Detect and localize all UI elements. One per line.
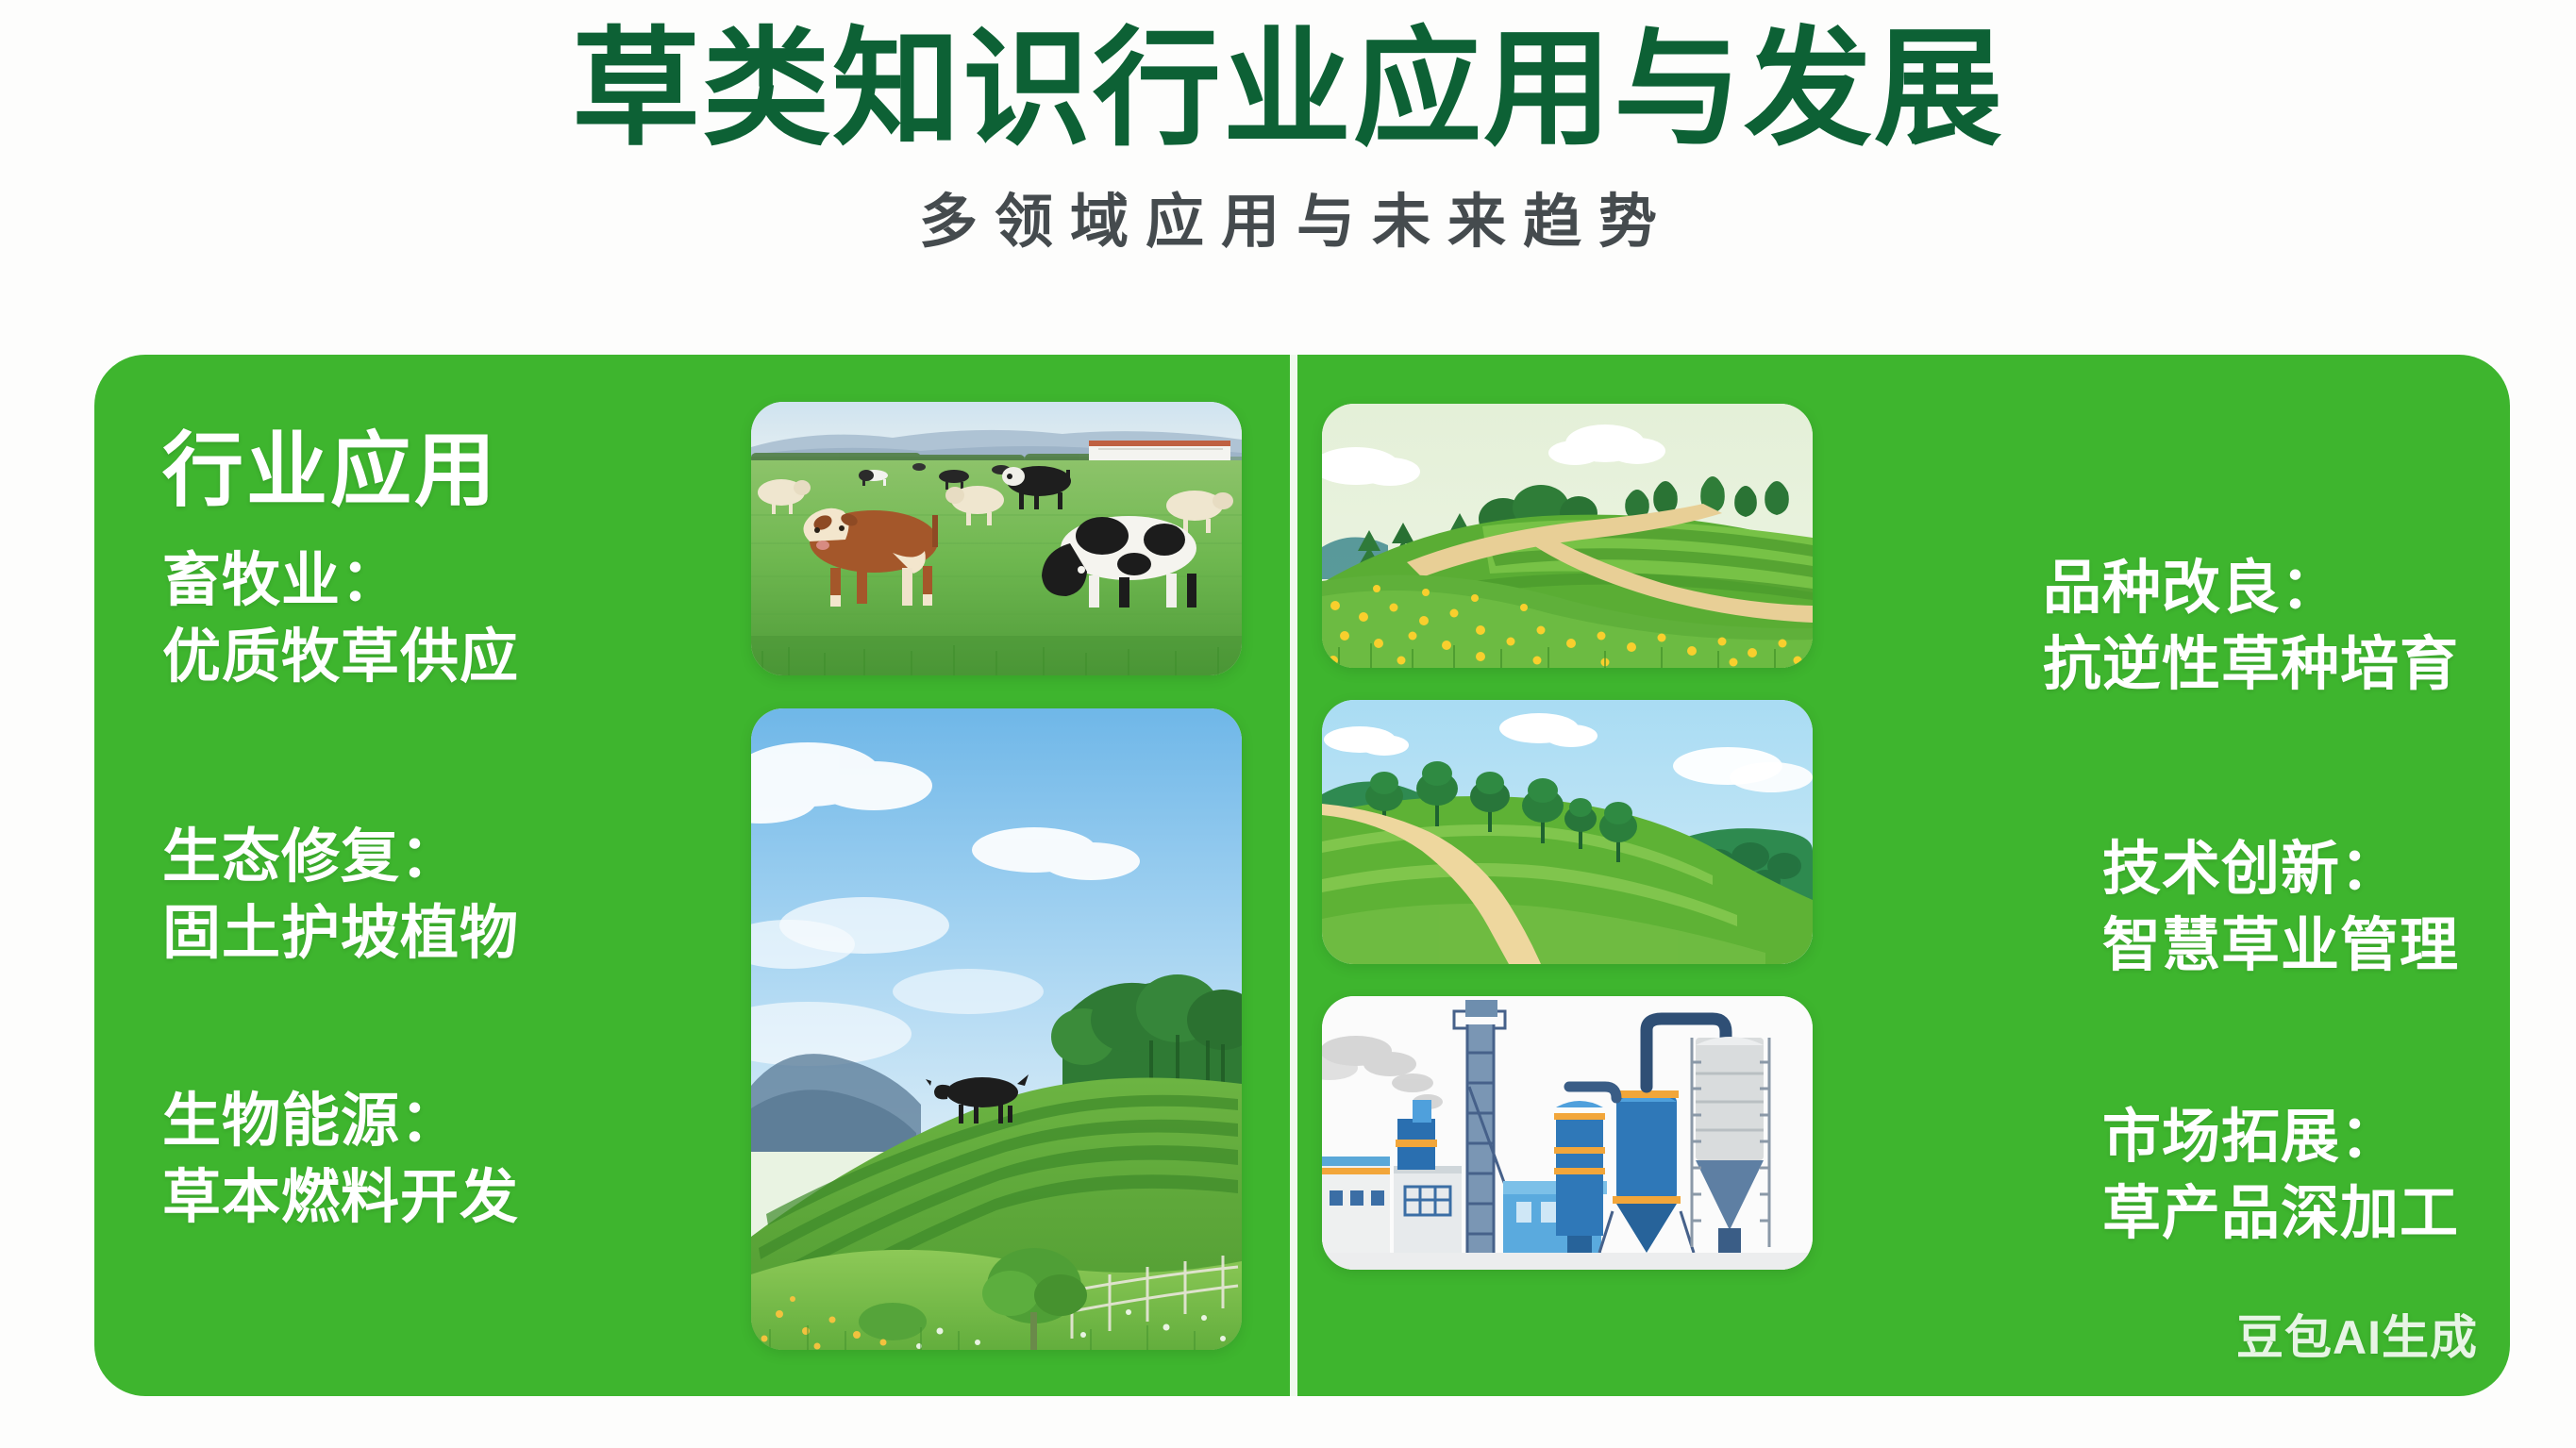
page-subtitle: 多领域应用与未来趋势 (0, 174, 2576, 258)
item-livestock-label: 畜牧业： (162, 543, 519, 620)
reactor-column (1554, 1101, 1605, 1253)
item-livestock: 畜牧业： 优质牧草供应 (162, 543, 519, 695)
image-pasture-grazing-cattle (751, 402, 1242, 675)
item-variety-improvement: 品种改良： 抗逆性草种培育 (2043, 551, 2459, 703)
column-development-trends: 发展趋势 品种改良： 抗逆性草种培育 技术创新： 智慧草业管理 市场拓展： 草产… (1290, 355, 2502, 1396)
content-panel: 行业应用 畜牧业： 优质牧草供应 生态修复： 固土护坡植物 生物能源： 草本燃料… (94, 355, 2510, 1396)
item-ecological-restoration: 生态修复： 固土护坡植物 (162, 820, 519, 972)
plant-building (1394, 1166, 1462, 1253)
item-bioenergy-value: 草本燃料开发 (162, 1160, 519, 1237)
item-variety-improvement-label: 品种改良： (2043, 551, 2459, 627)
farm-buildings-icon (1089, 441, 1230, 460)
item-bioenergy: 生物能源： 草本燃料开发 (162, 1084, 519, 1236)
item-technical-innovation-label: 技术创新： (2102, 832, 2459, 908)
image-processing-factory (1322, 996, 1813, 1270)
column-industry-applications: 行业应用 畜牧业： 优质牧草供应 生态修复： 固土护坡植物 生物能源： 草本燃料… (94, 355, 1290, 1396)
office-building (1322, 1157, 1390, 1253)
item-variety-improvement-value: 抗逆性草种培育 (2043, 627, 2459, 704)
image-striped-fields-with-flowers (1322, 404, 1813, 668)
header: 草类知识行业应用与发展 多领域应用与未来趋势 (0, 0, 2576, 258)
small-bush (859, 1303, 927, 1340)
item-ecological-restoration-value: 固土护坡植物 (162, 896, 519, 973)
item-bioenergy-label: 生物能源： (162, 1084, 519, 1160)
image-rolling-hills-with-trees (1322, 700, 1813, 964)
fields-illustration (1322, 404, 1813, 668)
item-technical-innovation: 技术创新： 智慧草业管理 (2102, 832, 2459, 984)
image-terraced-green-hillside (751, 708, 1242, 1350)
terrace-illustration (751, 708, 1242, 1350)
item-market-expansion-label: 市场拓展： (2102, 1100, 2459, 1176)
item-market-expansion-value: 草产品深加工 (2102, 1176, 2459, 1253)
item-ecological-restoration-label: 生态修复： (162, 820, 519, 896)
page-title: 草类知识行业应用与发展 (0, 17, 2576, 160)
factory-illustration (1322, 996, 1813, 1270)
pasture-illustration (751, 402, 1242, 675)
item-market-expansion: 市场拓展： 草产品深加工 (2102, 1100, 2459, 1252)
item-technical-innovation-value: 智慧草业管理 (2102, 908, 2459, 985)
item-livestock-value: 优质牧草供应 (162, 620, 519, 696)
hills-illustration (1322, 700, 1813, 964)
column-heading-industry: 行业应用 (162, 404, 498, 522)
